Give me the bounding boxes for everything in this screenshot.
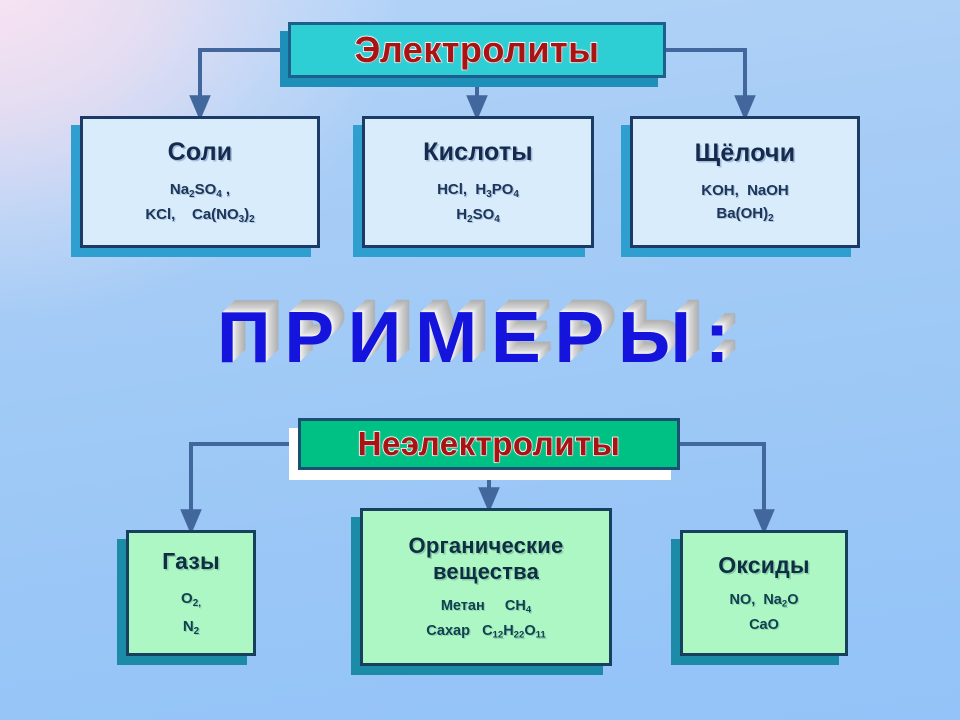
formula-line: HCl, H3PO4 [437, 181, 519, 200]
formula-line: KCl, Ca(NO3)2 [145, 206, 254, 225]
connector-nonelectrolytes-to-gases [191, 444, 298, 522]
category-title-salts: Соли [168, 139, 233, 165]
category-box-gases: Газы O2, N2 [126, 530, 256, 656]
formula-line: Сахар C12H22O11 [426, 623, 545, 641]
wordart-examples: ПРИМЕРЫ: [0, 292, 960, 384]
formula-line: Ba(OH)2 [716, 205, 773, 224]
category-box-organic: Органические вещества Метан CH4 Сахар C1… [360, 508, 612, 666]
connector-electrolytes-to-alkalis [666, 50, 745, 108]
banner-electrolytes: Электролиты [288, 22, 666, 78]
connector-electrolytes-to-salts [200, 50, 288, 108]
formula-line: KOH, NaOH [701, 182, 789, 199]
category-title-oxides: Оксиды [718, 553, 809, 577]
banner-nonelectrolytes-label: Неэлектролиты [358, 425, 621, 463]
category-box-alkalis: Щёлочи KOH, NaOH Ba(OH)2 [630, 116, 860, 248]
category-box-acids: Кислоты HCl, H3PO4 H2SO4 [362, 116, 594, 248]
slide-canvas: Электролиты Соли Na2SO4 , KCl, Ca(NO3)2 … [0, 0, 960, 720]
category-title-organic-line1: Органические [409, 533, 564, 558]
category-title-organic: Органические вещества [409, 533, 564, 585]
banner-nonelectrolytes: Неэлектролиты [298, 418, 680, 470]
formula-line: O2, [181, 590, 201, 609]
connector-nonelectrolytes-to-oxides [680, 444, 764, 522]
formula-line: H2SO4 [456, 206, 500, 225]
category-title-gases: Газы [162, 549, 220, 573]
category-title-acids: Кислоты [423, 139, 533, 165]
wordart-examples-label: ПРИМЕРЫ: [217, 297, 743, 379]
category-box-oxides: Оксиды NO, Na2O CaO [680, 530, 848, 656]
formula-line: N2 [183, 618, 199, 637]
category-title-alkalis: Щёлочи [695, 140, 796, 166]
formula-line: CaO [749, 617, 779, 633]
formula-line: Метан CH4 [441, 598, 531, 616]
formula-line: NO, Na2O [730, 592, 799, 610]
banner-electrolytes-label: Электролиты [355, 29, 600, 71]
category-title-organic-line2: вещества [433, 559, 539, 584]
category-box-salts: Соли Na2SO4 , KCl, Ca(NO3)2 [80, 116, 320, 248]
formula-line: Na2SO4 , [170, 181, 230, 200]
